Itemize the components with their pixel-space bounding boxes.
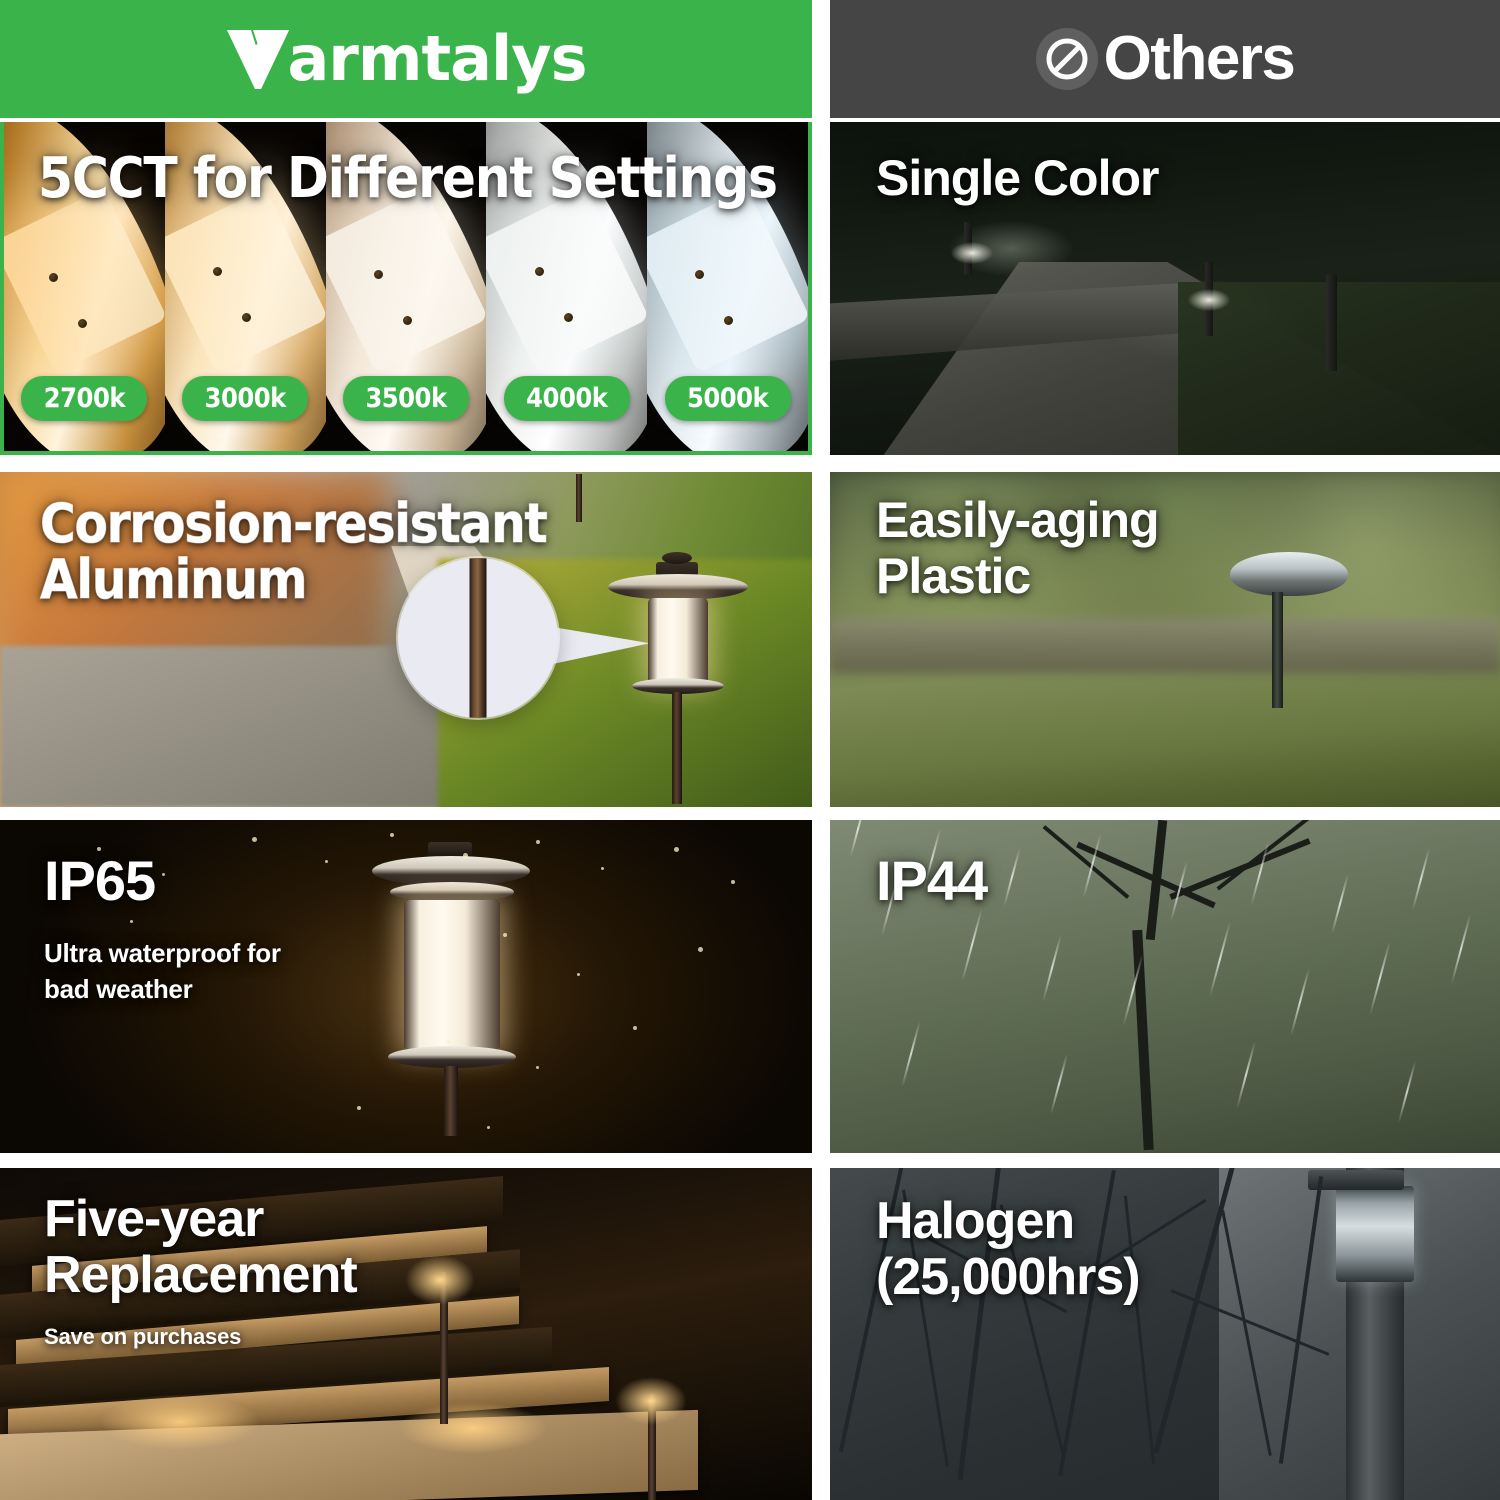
panel-ip65: IP65 Ultra waterproof for bad weather <box>0 820 812 1153</box>
panel-ip44: IP44 <box>830 820 1500 1153</box>
caption-replacement-line2: Replacement <box>44 1248 357 1302</box>
panel-single-color: Single Color <box>830 122 1500 455</box>
brand-name: armtalys <box>287 28 586 90</box>
cct-badge-5000k: 5000k <box>665 376 791 421</box>
panel-replacement: Five-year Replacement Save on purchases <box>0 1168 812 1500</box>
cct-badge-row: 2700k 3000k 3500k 4000k 5000k <box>4 376 808 421</box>
brand-logo: armtalys <box>225 27 586 91</box>
caption-replacement-sub: Save on purchases <box>44 1326 241 1349</box>
panel-halogen: Halogen (25,000hrs) <box>830 1168 1500 1500</box>
cct-badge-2700k: 2700k <box>21 376 147 421</box>
caption-ip65-sub-line1: Ultra waterproof for <box>44 940 281 967</box>
caption-ip65-sub-line2: bad weather <box>44 976 192 1003</box>
prohibition-icon <box>1036 28 1098 90</box>
caption-halogen-line2: (25,000hrs) <box>876 1250 1140 1304</box>
caption-aluminum-line1: Corrosion-resistant <box>40 496 547 552</box>
caption-aluminum-line2: Aluminum <box>40 552 306 608</box>
panel-5cct: 5CCT for Different Settings 2700k 3000k … <box>0 122 812 455</box>
caption-replacement-line1: Five-year <box>44 1192 263 1246</box>
brand-header: armtalys <box>0 0 812 118</box>
caption-ip65-title: IP65 <box>44 852 155 910</box>
cct-badge-3000k: 3000k <box>182 376 308 421</box>
caption-halogen-line1: Halogen <box>876 1194 1074 1248</box>
others-logo: Others <box>1036 28 1295 90</box>
comparison-infographic: armtalys Others <box>0 0 1500 1500</box>
panel-aluminum: Corrosion-resistant Aluminum <box>0 472 812 807</box>
v-check-logo-icon <box>225 27 291 91</box>
others-label: Others <box>1104 28 1295 90</box>
caption-plastic-line2: Plastic <box>876 550 1030 602</box>
caption-single-color: Single Color <box>876 152 1158 204</box>
caption-ip44-title: IP44 <box>876 852 987 910</box>
panel-plastic: Easily-aging Plastic <box>830 472 1500 807</box>
caption-plastic-line1: Easily-aging <box>876 494 1159 546</box>
caption-5cct-title: 5CCT for Different Settings <box>38 150 777 208</box>
cct-badge-3500k: 3500k <box>343 376 469 421</box>
cct-badge-4000k: 4000k <box>504 376 630 421</box>
others-header: Others <box>830 0 1500 118</box>
